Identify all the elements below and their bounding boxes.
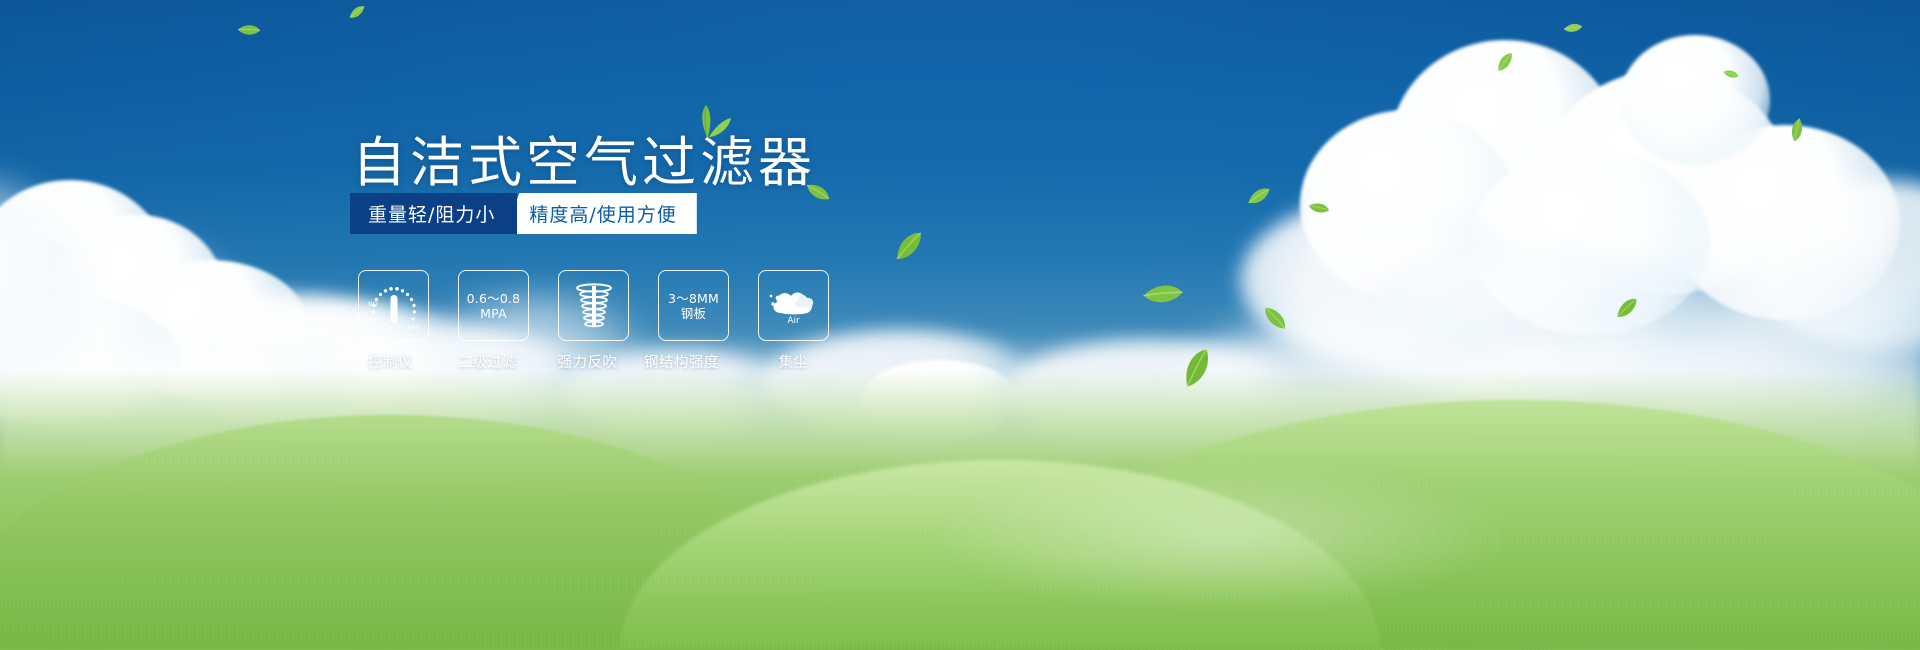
tag-secondary[interactable]: 精度高/使用方便	[503, 193, 696, 234]
feature-item[interactable]: 强力反吹	[558, 270, 629, 372]
leaf-icon	[686, 88, 732, 151]
pressure-value-line2: MPA	[480, 306, 507, 321]
tag-primary[interactable]: 重量轻/阻力小	[350, 193, 517, 234]
feature-icon-box: 3～8MM 钢板	[658, 270, 729, 341]
feature-label: 强力反吹	[558, 351, 618, 372]
steel-value-line2: 钢板	[681, 306, 706, 321]
feature-label: 控制仪	[368, 351, 413, 372]
feature-icon-box: Air	[758, 270, 829, 341]
gauge-min-label: NO	[368, 301, 378, 308]
page-title: 自洁式空气过滤器	[352, 118, 816, 197]
feature-label: 二级过滤	[458, 351, 518, 372]
feature-icon-box	[558, 270, 629, 341]
banner-content: 自洁式空气过滤器 重量轻/阻力小 精度高/使用方便	[0, 0, 1920, 650]
steel-value-line1: 3～8MM	[668, 291, 719, 306]
feature-label: 集尘	[779, 351, 809, 372]
product-banner: 自洁式空气过滤器 重量轻/阻力小 精度高/使用方便	[0, 0, 1920, 650]
feature-icon-box: 0.6～0.8 MPA	[458, 270, 529, 341]
pressure-value-line1: 0.6～0.8	[467, 291, 521, 306]
feature-item[interactable]: 0.6～0.8 MPA 二级过滤	[458, 270, 529, 372]
tag-primary-label: 重量轻/阻力小	[368, 200, 495, 227]
feature-list: NO OFF 控制仪 0.6～0.8 MPA 二级过滤	[358, 270, 829, 372]
page-title-text: 自洁式空气过滤器	[352, 131, 816, 194]
feature-item[interactable]: 3～8MM 钢板 钢结构强度	[658, 270, 729, 372]
filter-stack-icon	[569, 281, 619, 331]
feature-item[interactable]: NO OFF 控制仪	[358, 270, 429, 372]
feature-tags: 重量轻/阻力小 精度高/使用方便	[350, 193, 697, 234]
air-label: Air	[759, 316, 828, 326]
gauge-max-label: OFF	[407, 325, 420, 332]
feature-item[interactable]: Air 集尘	[758, 270, 829, 372]
tag-secondary-label: 精度高/使用方便	[529, 200, 676, 227]
feature-label: 钢结构强度	[644, 351, 719, 372]
feature-icon-box: NO OFF	[358, 270, 429, 341]
